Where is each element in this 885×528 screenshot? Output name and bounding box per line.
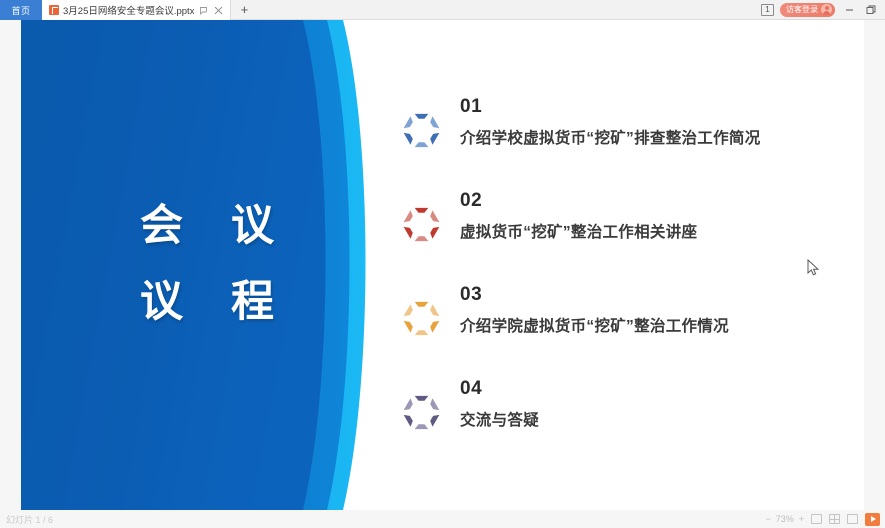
normal-view-icon[interactable] xyxy=(811,514,822,524)
title-bar-right-controls: 1 访客登录 xyxy=(761,0,885,19)
login-button[interactable]: 访客登录 xyxy=(780,3,835,17)
status-bar-right-controls: − 73% + xyxy=(765,513,885,526)
tab-strip: 3月25日网络安全专题会议.pptx + xyxy=(42,0,257,19)
zoom-out-button[interactable]: − xyxy=(765,514,770,524)
document-tab[interactable]: 3月25日网络安全专题会议.pptx xyxy=(42,0,231,20)
play-slideshow-icon[interactable] xyxy=(865,513,880,526)
new-tab-button[interactable]: + xyxy=(231,0,257,19)
agenda-item-text: 介绍学院虚拟货币“挖矿”整治工作情况 xyxy=(460,306,856,337)
zoom-level-label: 73% xyxy=(776,514,794,524)
slide-canvas[interactable]: 会 议 议 程 xyxy=(21,20,864,510)
avatar xyxy=(821,4,832,15)
hexagon-arrows-icon xyxy=(398,201,445,248)
hexagon-arrows-icon xyxy=(398,107,445,154)
slide-sorter-icon[interactable] xyxy=(829,514,840,524)
application-body: 会 议 议 程 xyxy=(0,20,885,528)
document-tab-label: 3月25日网络安全专题会议.pptx xyxy=(63,3,194,17)
title-bar-spacer xyxy=(257,0,761,19)
hexagon-arrows-icon xyxy=(398,295,445,342)
agenda-item-number: 01 xyxy=(460,88,856,118)
tab-count-badge[interactable]: 1 xyxy=(761,4,774,16)
home-button-label: 首页 xyxy=(11,4,30,17)
zoom-in-button[interactable]: + xyxy=(799,514,804,524)
slide-title-line-1: 会 议 xyxy=(21,188,393,264)
agenda-item[interactable]: 02 虚拟货币“挖矿”整治工作相关讲座 xyxy=(396,182,856,276)
slide-title-line-2: 议 程 xyxy=(21,264,393,340)
status-bar: 幻灯片 1 / 6 − 73% + xyxy=(0,510,885,528)
tab-count-label: 1 xyxy=(765,5,769,14)
agenda-item[interactable]: 01 介绍学校虚拟货币“挖矿”排查整治工作简况 xyxy=(396,88,856,182)
slide-title: 会 议 议 程 xyxy=(21,188,393,340)
agenda-item-text: 介绍学校虚拟货币“挖矿”排查整治工作简况 xyxy=(460,118,856,149)
reading-view-icon[interactable] xyxy=(847,514,858,524)
restore-button[interactable] xyxy=(863,2,879,18)
login-button-label: 访客登录 xyxy=(786,4,818,15)
slide-decorative-panel: 会 议 议 程 xyxy=(21,20,421,510)
close-tab-icon[interactable] xyxy=(213,5,224,16)
powerpoint-file-icon xyxy=(49,5,59,15)
agenda-item-number: 02 xyxy=(460,182,856,212)
slide-indicator: 幻灯片 1 / 6 xyxy=(0,513,53,526)
title-bar: 首页 3月25日网络安全专题会议.pptx + 1 访客登录 xyxy=(0,0,885,20)
agenda-item-text: 交流与答疑 xyxy=(460,400,856,431)
pin-tab-icon[interactable] xyxy=(198,5,209,16)
home-button[interactable]: 首页 xyxy=(0,0,42,20)
agenda-item-number: 03 xyxy=(460,276,856,306)
agenda-item[interactable]: 03 介绍学院虚拟货币“挖矿”整治工作情况 xyxy=(396,276,856,370)
agenda-item[interactable]: 04 交流与答疑 xyxy=(396,370,856,464)
hexagon-arrows-icon xyxy=(398,389,445,436)
minimize-button[interactable] xyxy=(841,2,857,18)
zoom-controls: − 73% + xyxy=(765,514,804,524)
agenda-list: 01 介绍学校虚拟货币“挖矿”排查整治工作简况 xyxy=(396,88,856,464)
agenda-item-text: 虚拟货币“挖矿”整治工作相关讲座 xyxy=(460,212,856,243)
new-tab-label: + xyxy=(241,2,249,17)
agenda-item-number: 04 xyxy=(460,370,856,400)
